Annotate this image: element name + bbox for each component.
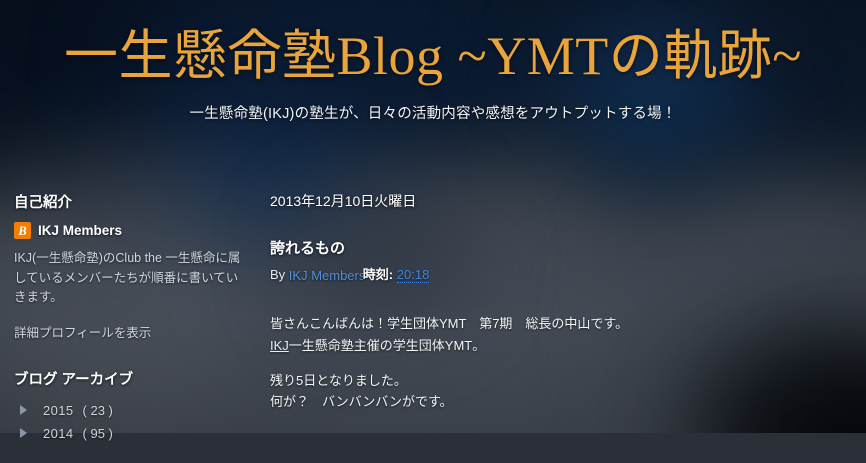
view-profile-link[interactable]: 詳細プロフィールを表示 — [14, 322, 151, 341]
site-header: 一生懸命塾Blog ~YMTの軌跡~ 一生懸命塾(IKJ)の塾生が、日々の活動内… — [0, 0, 866, 123]
post-title[interactable]: 誇れるもの — [270, 237, 846, 258]
post-text-line: 残り5日となりました。 — [270, 373, 407, 388]
blogger-icon: B — [14, 222, 31, 239]
profile-name[interactable]: IKJ Members — [38, 223, 122, 238]
post-paragraph-1: 皆さんこんばんは！学生団体YMT 第7期 総長の中山です。 IKJ一生懸命塾主催… — [270, 313, 846, 355]
post-date: 2013年12月10日火曜日 — [270, 191, 846, 211]
content-area: 自己紹介 B IKJ Members IKJ(一生懸命塾)のClub the 一… — [0, 123, 866, 462]
archive-count-label: ( 23 ) — [83, 403, 113, 418]
archive-widget: ブログ アーカイブ 2015 ( 23 ) 2014 ( 95 ) — [14, 368, 246, 445]
archive-year-label[interactable]: 2015 — [43, 403, 74, 418]
post-text-line: 何が？ バンバンバンがです。 — [270, 394, 453, 409]
archive-count-label: ( 95 ) — [83, 426, 113, 441]
blog-subtitle: 一生懸命塾(IKJ)の塾生が、日々の活動内容や感想をアウトプットする場！ — [0, 102, 866, 123]
post-byline: By IKJ Members時刻: 20:18 — [270, 264, 846, 283]
blog-page: 一生懸命塾Blog ~YMTの軌跡~ 一生懸命塾(IKJ)の塾生が、日々の活動内… — [0, 0, 866, 433]
archive-year-label[interactable]: 2014 — [43, 426, 74, 441]
profile-widget: 自己紹介 B IKJ Members IKJ(一生懸命塾)のClub the 一… — [14, 191, 246, 341]
archive-widget-title: ブログ アーカイブ — [14, 368, 246, 389]
chevron-right-icon[interactable] — [20, 405, 34, 415]
post-body: 皆さんこんばんは！学生団体YMT 第7期 総長の中山です。 IKJ一生懸命塾主催… — [270, 313, 846, 411]
post-paragraph-2: 残り5日となりました。 何が？ バンバンバンがです。 — [270, 370, 846, 412]
post-author-link[interactable]: IKJ Members — [289, 268, 363, 283]
blog-post: 誇れるもの By IKJ Members時刻: 20:18 皆さんこんばんは！学… — [270, 237, 846, 411]
post-column: 2013年12月10日火曜日 誇れるもの By IKJ Members時刻: 2… — [246, 191, 866, 411]
archive-item-2014[interactable]: 2014 ( 95 ) — [14, 422, 246, 445]
post-time-link[interactable]: 20:18 — [397, 267, 430, 283]
archive-item-2015[interactable]: 2015 ( 23 ) — [14, 399, 246, 422]
blog-title[interactable]: 一生懸命塾Blog ~YMTの軌跡~ — [0, 26, 866, 86]
ikj-link[interactable]: IKJ — [270, 338, 289, 353]
byline-time-label: 時刻: — [363, 267, 393, 282]
post-text-line: 一生懸命塾主催の学生団体YMT。 — [289, 338, 485, 353]
chevron-right-icon[interactable] — [20, 428, 34, 438]
profile-widget-title: 自己紹介 — [14, 191, 246, 212]
byline-prefix: By — [270, 267, 289, 282]
profile-description: IKJ(一生懸命塾)のClub the 一生懸命に属しているメンバーたちが順番に… — [14, 249, 246, 307]
sidebar: 自己紹介 B IKJ Members IKJ(一生懸命塾)のClub the 一… — [0, 191, 246, 462]
post-text-line: 皆さんこんばんは！学生団体YMT 第7期 総長の中山です。 — [270, 316, 628, 331]
profile-identity[interactable]: B IKJ Members — [14, 222, 246, 239]
